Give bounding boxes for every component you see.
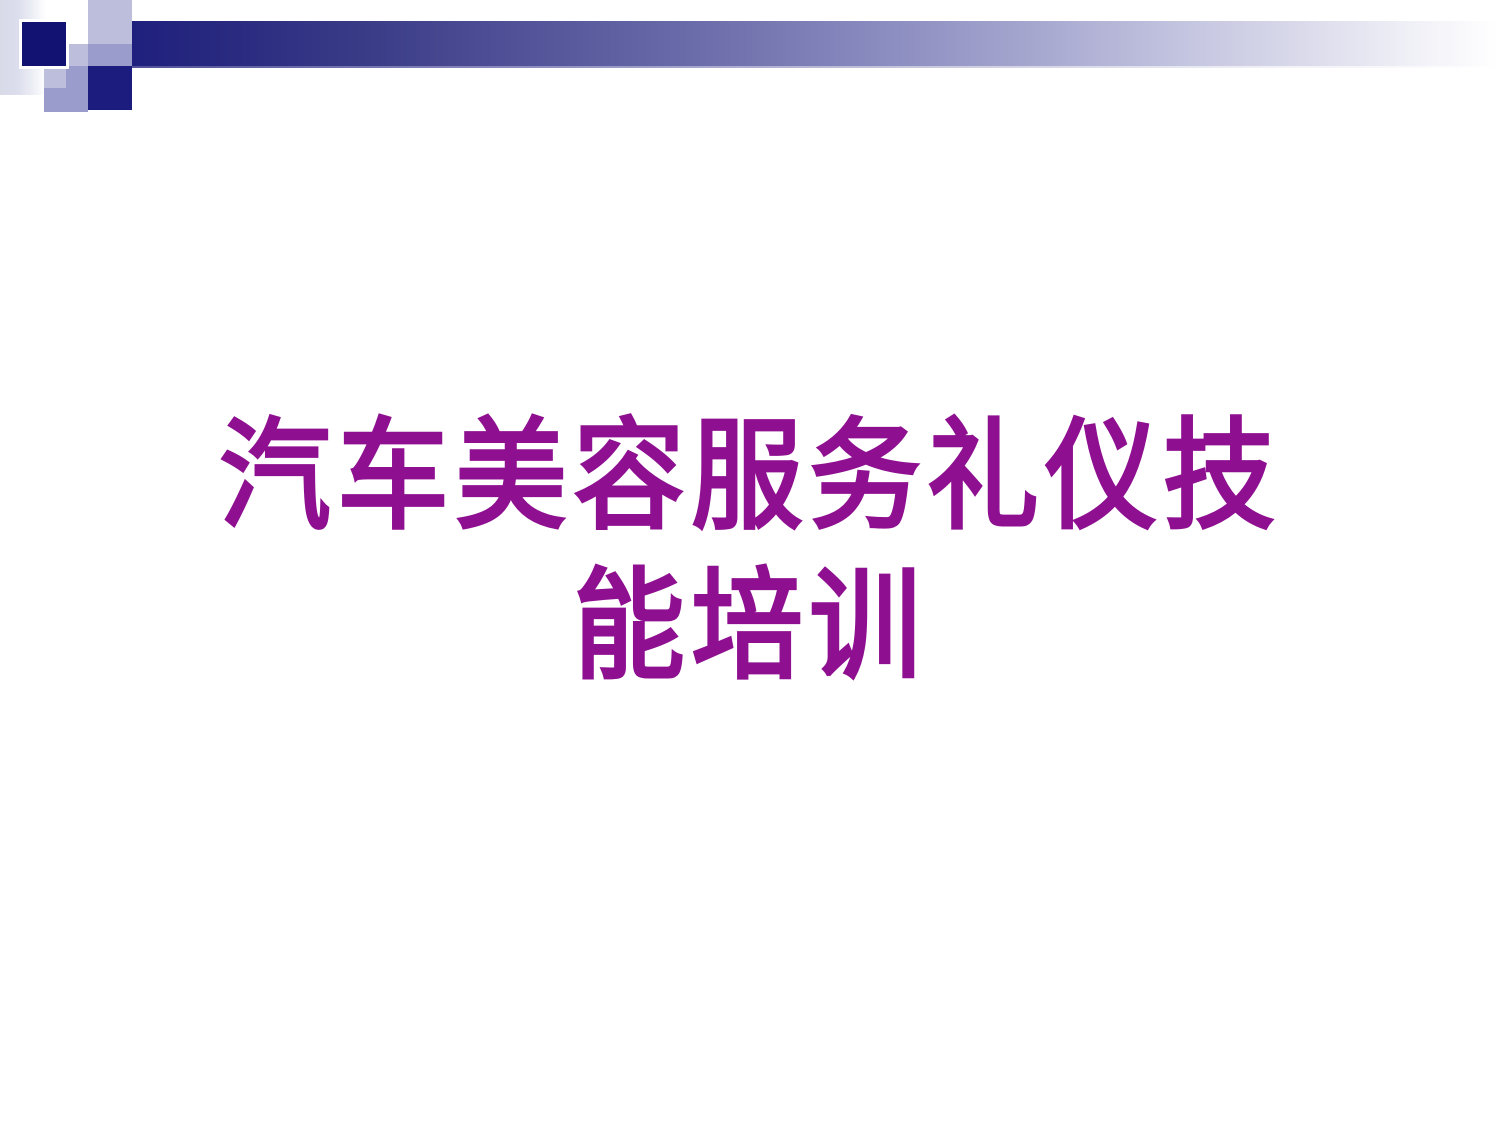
square-periwinkle-6 xyxy=(44,88,88,112)
slide-title: 汽车美容服务礼仪技 能培训 xyxy=(0,396,1500,696)
square-navy-dark xyxy=(22,22,66,66)
decorative-gradient-bar-hairline xyxy=(88,66,1500,68)
square-navy-block xyxy=(88,66,132,110)
decorative-header-band xyxy=(0,0,1500,95)
title-line-1: 汽车美容服务礼仪技 xyxy=(0,396,1500,558)
decorative-gradient-bar xyxy=(88,21,1500,66)
title-line-2: 能培训 xyxy=(0,546,1500,708)
square-periwinkle-1 xyxy=(88,0,132,44)
slide-canvas: 汽车美容服务礼仪技 能培训 xyxy=(0,0,1500,1125)
